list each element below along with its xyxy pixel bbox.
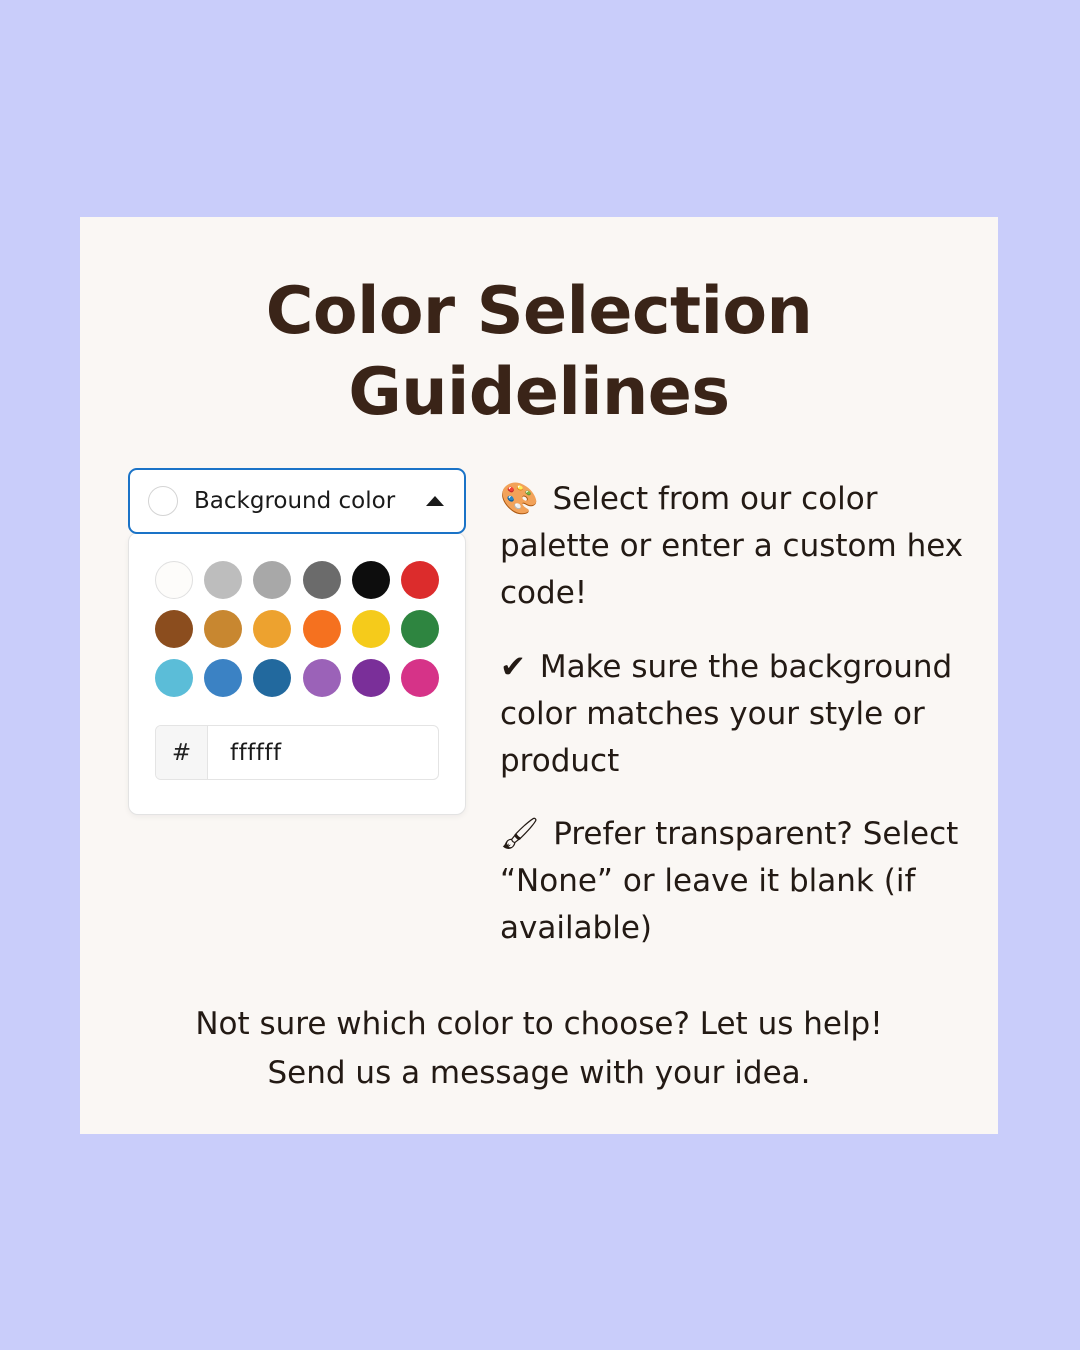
color-swatch-light-purple[interactable] <box>303 659 341 697</box>
content-card: Color Selection Guidelines Background co… <box>80 217 998 1134</box>
color-swatch-yellow[interactable] <box>352 610 390 648</box>
hex-input-row[interactable]: # ffffff <box>155 725 439 780</box>
selected-color-swatch <box>148 486 178 516</box>
guideline-text: Select from our color palette or enter a… <box>500 481 963 611</box>
color-swatch-black[interactable] <box>352 561 390 599</box>
color-swatch-dark-gray[interactable] <box>303 561 341 599</box>
dropdown-label: Background color <box>194 488 426 514</box>
guidelines-list: 🎨 Select from our color palette or enter… <box>500 468 968 952</box>
guideline-item: 🎨 Select from our color palette or enter… <box>500 476 968 617</box>
color-swatch-gray[interactable] <box>253 561 291 599</box>
paintbrush-emoji: 🖌 <box>500 816 539 852</box>
color-swatch-orange[interactable] <box>303 610 341 648</box>
guideline-item: ✔ Make sure the background color matches… <box>500 644 968 785</box>
color-swatch-white[interactable] <box>155 561 193 599</box>
color-swatch-pink[interactable] <box>401 659 439 697</box>
color-swatch-green[interactable] <box>401 610 439 648</box>
chevron-up-icon[interactable] <box>426 496 444 506</box>
color-swatch-red[interactable] <box>401 561 439 599</box>
color-swatch-bronze[interactable] <box>204 610 242 648</box>
palette-emoji: 🎨 <box>500 481 539 517</box>
color-swatch-light-gray[interactable] <box>204 561 242 599</box>
hex-input[interactable]: ffffff <box>208 726 438 779</box>
background-color-dropdown[interactable]: Background color <box>128 468 466 534</box>
color-swatch-brown[interactable] <box>155 610 193 648</box>
color-swatch-cyan[interactable] <box>155 659 193 697</box>
page-title: Color Selection Guidelines <box>80 217 998 433</box>
color-picker-widget: Background color # ffffff <box>128 468 466 815</box>
color-swatch-purple[interactable] <box>352 659 390 697</box>
color-palette-panel: # ffffff <box>128 532 466 815</box>
swatch-grid <box>155 561 439 697</box>
color-swatch-amber[interactable] <box>253 610 291 648</box>
checkmark-icon: ✔ <box>500 649 526 685</box>
hash-prefix: # <box>156 726 208 779</box>
guideline-text: Prefer transparent? Select “None” or lea… <box>500 816 958 946</box>
guideline-text: Make sure the background color matches y… <box>500 649 952 779</box>
color-swatch-dark-blue[interactable] <box>253 659 291 697</box>
guideline-item: 🖌 Prefer transparent? Select “None” or l… <box>500 811 968 952</box>
footer-text: Not sure which color to choose? Let us h… <box>80 952 998 1098</box>
body-columns: Background color # ffffff 🎨 Select from … <box>80 433 998 952</box>
color-swatch-blue[interactable] <box>204 659 242 697</box>
